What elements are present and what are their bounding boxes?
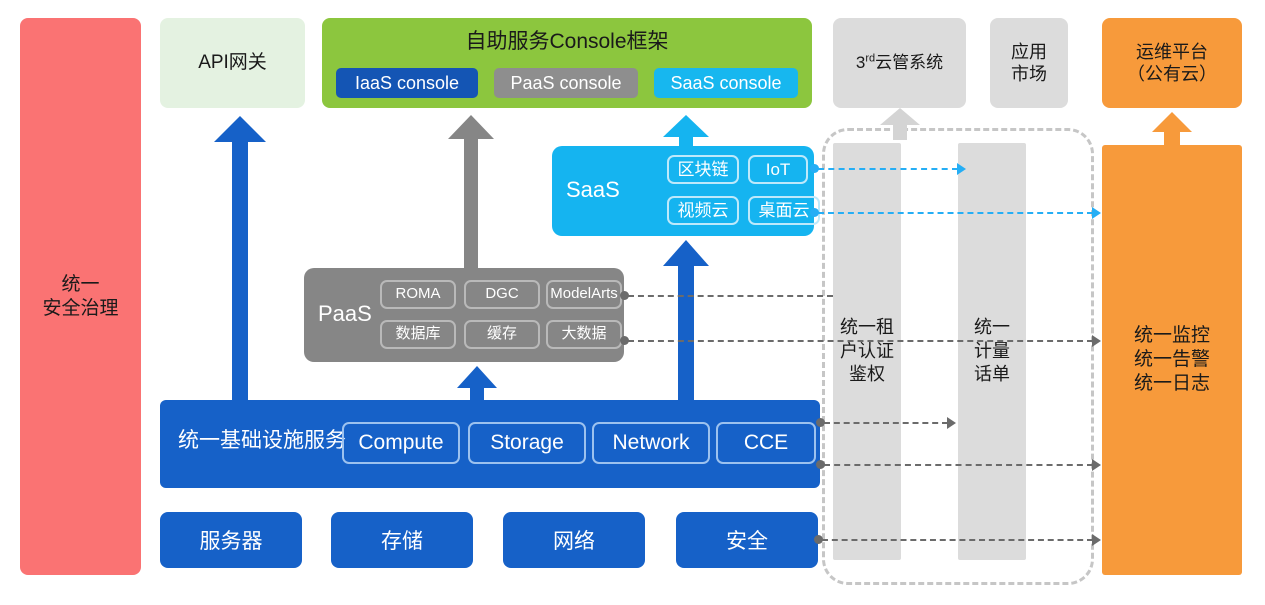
api-gateway-label: API网关 [198, 51, 267, 75]
third-party-cloud-mgmt-label: 3rd云管系统 [856, 52, 943, 73]
connector-arrow-paas-to-monitoring [1092, 335, 1101, 347]
connector-infra-to-metering [824, 422, 948, 424]
console-framework-title: 自助服务Console框架 [322, 29, 812, 55]
connector-paas-to-monitoring [628, 340, 1093, 342]
saas-console-chip[interactable]: SaaS console [654, 68, 798, 98]
console-framework-box[interactable]: 自助服务Console框架 IaaS console PaaS console … [322, 18, 812, 108]
app-market-label: 应用市场 [1011, 41, 1047, 86]
connector-hardware-to-monitoring [822, 539, 1093, 541]
ops-platform-box[interactable]: 运维平台（公有云） [1102, 18, 1242, 108]
arrow-paas-to-console [448, 115, 494, 270]
hardware-storage-box[interactable]: 存储 [331, 512, 473, 568]
shared-service-tenant-auth[interactable]: 统一租户认证鉴权 [833, 143, 901, 560]
paas-service-database[interactable]: 数据库 [380, 320, 456, 349]
connector-arrow-infra-to-metering [947, 417, 956, 429]
saas-layer-box[interactable]: SaaS 区块链 IoT 视频云 桌面云 [552, 146, 814, 236]
unified-infrastructure-bar[interactable]: 统一基础设施服务 Compute Storage Network CCE [160, 400, 820, 488]
saas-service-iot[interactable]: IoT [748, 155, 808, 184]
hardware-server-box[interactable]: 服务器 [160, 512, 302, 568]
iaas-console-chip[interactable]: IaaS console [336, 68, 478, 98]
paas-service-modelarts[interactable]: ModelArts [546, 280, 622, 309]
ops-platform-label: 运维平台（公有云） [1127, 41, 1217, 86]
shared-service-metering-billing[interactable]: 统一计量话单 [958, 143, 1026, 560]
arrow-infra-to-api-gateway [214, 116, 266, 402]
arrow-shared-to-third-party [880, 108, 920, 140]
connector-saas-to-auth [818, 168, 958, 170]
paas-service-roma[interactable]: ROMA [380, 280, 456, 309]
connector-saas-to-monitoring [818, 212, 1093, 214]
ops-monitoring-label: 统一监控统一告警统一日志 [1134, 324, 1210, 395]
unified-infrastructure-label: 统一基础设施服务 [178, 428, 346, 454]
infra-service-cce[interactable]: CCE [716, 422, 816, 464]
superscript-rd: rd [865, 53, 875, 65]
connector-arrow-hardware-to-monitoring [1092, 534, 1101, 546]
infra-service-compute[interactable]: Compute [342, 422, 460, 464]
infra-service-network[interactable]: Network [592, 422, 710, 464]
paas-console-chip[interactable]: PaaS console [494, 68, 638, 98]
saas-layer-label: SaaS [566, 176, 620, 204]
hardware-security-box[interactable]: 安全 [676, 512, 818, 568]
paas-layer-box[interactable]: PaaS ROMA DGC ModelArts 数据库 缓存 大数据 [304, 268, 624, 362]
arrow-infra-to-saas [663, 240, 709, 402]
connector-arrow-saas-to-auth [957, 163, 966, 175]
saas-service-blockchain[interactable]: 区块链 [667, 155, 739, 184]
paas-service-dgc[interactable]: DGC [464, 280, 540, 309]
security-governance-pillar[interactable]: 统一安全治理 [20, 18, 141, 575]
arrow-monitoring-to-ops-platform [1152, 112, 1192, 146]
paas-service-cache[interactable]: 缓存 [464, 320, 540, 349]
architecture-diagram: 统一安全治理 API网关 自助服务Console框架 IaaS console … [0, 0, 1265, 605]
connector-arrow-saas-to-monitoring [1092, 207, 1101, 219]
paas-service-bigdata[interactable]: 大数据 [546, 320, 622, 349]
connector-arrow-infra-to-monitoring [1092, 459, 1101, 471]
infra-service-storage[interactable]: Storage [468, 422, 586, 464]
third-party-cloud-mgmt-box[interactable]: 3rd云管系统 [833, 18, 966, 108]
arrow-saas-to-console [663, 115, 709, 149]
hardware-network-box[interactable]: 网络 [503, 512, 645, 568]
paas-layer-label: PaaS [318, 300, 372, 328]
app-market-box[interactable]: 应用市场 [990, 18, 1068, 108]
ops-monitoring-panel[interactable]: 统一监控统一告警统一日志 [1102, 145, 1242, 575]
connector-paas-to-auth [628, 295, 833, 297]
connector-infra-to-monitoring [824, 464, 1093, 466]
saas-service-video-cloud[interactable]: 视频云 [667, 196, 739, 225]
arrow-infra-to-paas [457, 366, 497, 404]
api-gateway-box[interactable]: API网关 [160, 18, 305, 108]
security-governance-label: 统一安全治理 [42, 273, 118, 321]
